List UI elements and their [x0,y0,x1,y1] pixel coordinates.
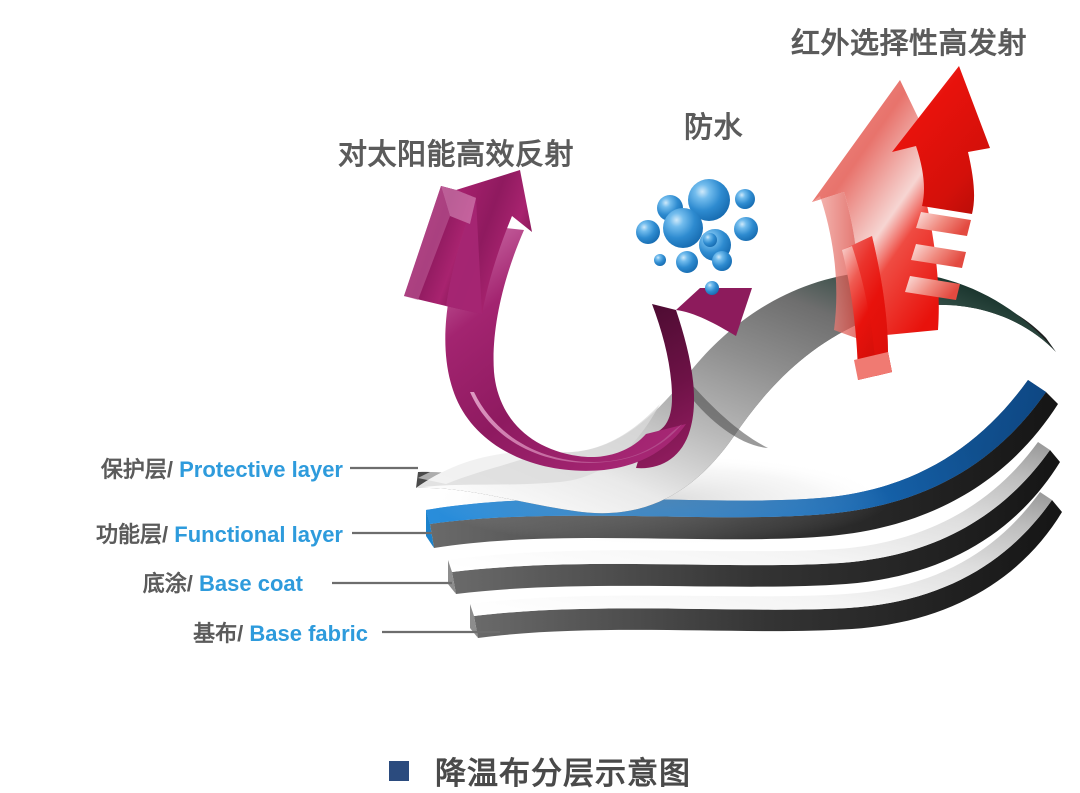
layer-label-cn: 保护层/ [101,457,173,482]
layer-label-en: Base coat [199,571,303,596]
annotation-waterproof: 防水 [684,104,743,146]
layer-label-en: Protective layer [179,457,343,482]
layered-fabric-illustration [0,0,1080,793]
caption-text: 降温布分层示意图 [435,756,691,791]
diagram-caption: 降温布分层示意图 [0,748,1080,793]
layer-label-en: Base fabric [249,621,368,646]
diagram-canvas: 对太阳能高效反射 防水 红外选择性高发射 保护层/ Protective lay… [0,0,1080,793]
annotation-infrared-emission: 红外选择性高发射 [791,20,1027,62]
caption-bullet-square [389,761,409,781]
waterproof-droplets [636,179,758,295]
layer-label-en: Functional layer [174,522,343,547]
annotation-solar-reflection: 对太阳能高效反射 [338,131,574,173]
layer-label-cn: 基布/ [193,621,243,646]
layer-label-functional: 功能层/ Functional layer [96,517,343,549]
layer-label-cn: 底涂/ [143,571,193,596]
layer-label-cn: 功能层/ [96,522,168,547]
layer-label-base-coat: 底涂/ Base coat [143,566,303,598]
layer-label-protective: 保护层/ Protective layer [101,452,343,484]
layer-label-base-fabric: 基布/ Base fabric [193,616,368,648]
